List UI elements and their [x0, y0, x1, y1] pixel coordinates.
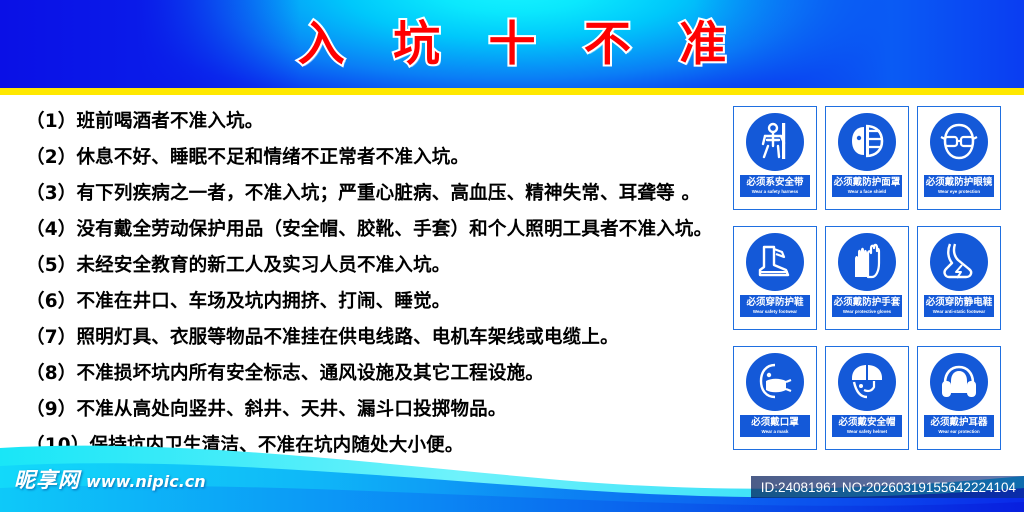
header-divider: [0, 88, 1024, 95]
sign-label-cn: 必须戴护耳器: [924, 417, 994, 428]
sign-label-en: Wear a face shield: [833, 188, 900, 195]
sign-label-cn: 必须戴防护眼镜: [924, 177, 994, 188]
sign-label-cn: 必须戴防护面罩: [832, 177, 902, 188]
rule-item: （2）休息不好、睡眠不足和情绪不正常者不准入坑。: [26, 140, 726, 176]
sign-label-en: Wear a mask: [741, 428, 808, 435]
antistatic-footwear-icon: [930, 233, 988, 291]
sign-label-cn: 必须戴安全帽: [832, 417, 902, 428]
poster-header: 入 坑 十 不 准: [0, 0, 1024, 88]
image-id-bar: ID:24081961 NO:20260319155642224104: [751, 476, 1024, 498]
safety-harness-icon: [746, 113, 804, 171]
sign-label-cn: 必须戴防护手套: [832, 297, 902, 308]
sign-protective-gloves: 必须戴防护手套 Wear protective gloves: [825, 226, 909, 330]
rules-list: （1）班前喝酒者不准入坑。 （2）休息不好、睡眠不足和情绪不正常者不准入坑。 （…: [26, 104, 726, 464]
safety-helmet-icon: [838, 353, 896, 411]
sign-label: 必须系安全带 Wear a safety harness: [740, 175, 810, 197]
sign-safety-footwear: 必须穿防护鞋 Wear safety footwear: [733, 226, 817, 330]
sign-ear-protection: 必须戴护耳器 Wear ear protection: [917, 346, 1001, 450]
rule-item: （9）不准从高处向竖井、斜井、天井、漏斗口投掷物品。: [26, 392, 726, 428]
rule-item: （8）不准损坏坑内所有安全标志、通风设施及其它工程设施。: [26, 356, 726, 392]
sign-label: 必须戴防护面罩 Wear a face shield: [832, 175, 902, 197]
rule-item: （7）照明灯具、衣服等物品不准挂在供电线路、电机车架线或电缆上。: [26, 320, 726, 356]
sign-label: 必须戴防护手套 Wear protective gloves: [832, 295, 902, 317]
watermark-logo-text: 昵享网: [14, 464, 80, 494]
mandatory-sign-grid: 必须系安全带 Wear a safety harness 必须戴防护面罩 Wea…: [733, 106, 1001, 450]
sign-label-cn: 必须穿防静电鞋: [924, 297, 994, 308]
sign-label: 必须穿防静电鞋 Wear anti-static footwear: [924, 295, 994, 317]
safety-poster: 入 坑 十 不 准 （1）班前喝酒者不准入坑。 （2）休息不好、睡眠不足和情绪不…: [0, 0, 1024, 512]
sign-antistatic-footwear: 必须穿防静电鞋 Wear anti-static footwear: [917, 226, 1001, 330]
rule-item: （1）班前喝酒者不准入坑。: [26, 104, 726, 140]
sign-face-shield: 必须戴防护面罩 Wear a face shield: [825, 106, 909, 210]
sign-label-en: Wear protective gloves: [833, 308, 900, 315]
sign-label-en: Wear eye protection: [925, 188, 992, 195]
sign-face-mask: 必须戴口罩 Wear a mask: [733, 346, 817, 450]
poster-title: 入 坑 十 不 准: [0, 0, 1024, 88]
sign-eye-protection: 必须戴防护眼镜 Wear eye protection: [917, 106, 1001, 210]
safety-footwear-icon: [746, 233, 804, 291]
sign-safety-helmet: 必须戴安全帽 Wear safety helmet: [825, 346, 909, 450]
sign-label-cn: 必须戴口罩: [740, 417, 810, 428]
sign-label: 必须戴护耳器 Wear ear protection: [924, 415, 994, 437]
site-watermark: 昵享网 www.nipic.cn: [14, 464, 206, 494]
sign-label: 必须戴口罩 Wear a mask: [740, 415, 810, 437]
sign-label-en: Wear a safety harness: [741, 188, 808, 195]
sign-label: 必须戴安全帽 Wear safety helmet: [832, 415, 902, 437]
eye-protection-icon: [930, 113, 988, 171]
rule-item: （4）没有戴全劳动保护用品（安全帽、胶靴、手套）和个人照明工具者不准入坑。: [26, 212, 726, 248]
ear-protection-icon: [930, 353, 988, 411]
sign-label-cn: 必须系安全带: [740, 177, 810, 188]
face-mask-icon: [746, 353, 804, 411]
watermark-url: www.nipic.cn: [86, 472, 206, 491]
rule-item: （5）未经安全教育的新工人及实习人员不准入坑。: [26, 248, 726, 284]
image-id-text: ID:24081961 NO:20260319155642224104: [761, 480, 1016, 495]
sign-safety-harness: 必须系安全带 Wear a safety harness: [733, 106, 817, 210]
rule-item: （6）不准在井口、车场及坑内拥挤、打闹、睡觉。: [26, 284, 726, 320]
sign-label-en: Wear ear protection: [925, 428, 992, 435]
sign-label-en: Wear anti-static footwear: [925, 308, 992, 315]
rule-item: （3）有下列疾病之一者，不准入坑；严重心脏病、高血压、精神失常、耳聋等 。: [26, 176, 726, 212]
sign-label: 必须穿防护鞋 Wear safety footwear: [740, 295, 810, 317]
sign-label-en: Wear safety helmet: [833, 428, 900, 435]
protective-gloves-icon: [838, 233, 896, 291]
face-shield-icon: [838, 113, 896, 171]
sign-label-en: Wear safety footwear: [741, 308, 808, 315]
sign-label: 必须戴防护眼镜 Wear eye protection: [924, 175, 994, 197]
sign-label-cn: 必须穿防护鞋: [740, 297, 810, 308]
